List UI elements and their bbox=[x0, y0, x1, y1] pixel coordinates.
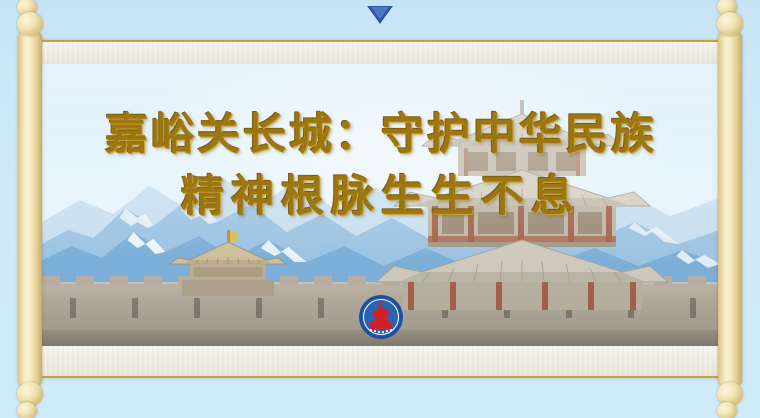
knob-ball-lower bbox=[17, 402, 37, 418]
knob-ball-lower bbox=[717, 12, 743, 36]
gate-tower bbox=[372, 100, 672, 310]
triangle-down-icon[interactable] bbox=[367, 6, 393, 24]
scroll-frame: 嘉峪关长城：守护中华民族 精神根脉生生不息 bbox=[10, 10, 750, 408]
knob-ball-lower bbox=[17, 12, 43, 36]
scroll-knob-bottom-left bbox=[17, 386, 43, 416]
paper-band-bottom bbox=[42, 346, 720, 376]
scroll-knob-top-right bbox=[717, 2, 743, 32]
knob-ball-lower bbox=[717, 402, 737, 418]
small-pavilion bbox=[154, 230, 304, 296]
scroll-roller-left bbox=[18, 32, 42, 386]
scroll-knob-bottom-right bbox=[717, 386, 743, 416]
jiayuguan-badge-icon[interactable] bbox=[358, 294, 404, 340]
scroll-knob-top-left bbox=[17, 2, 43, 32]
scroll-roller-right bbox=[718, 32, 742, 386]
paper-band-top bbox=[42, 42, 720, 64]
slide-stage: 嘉峪关长城：守护中华民族 精神根脉生生不息 bbox=[0, 0, 760, 418]
scroll-panel: 嘉峪关长城：守护中华民族 精神根脉生生不息 bbox=[40, 40, 722, 378]
